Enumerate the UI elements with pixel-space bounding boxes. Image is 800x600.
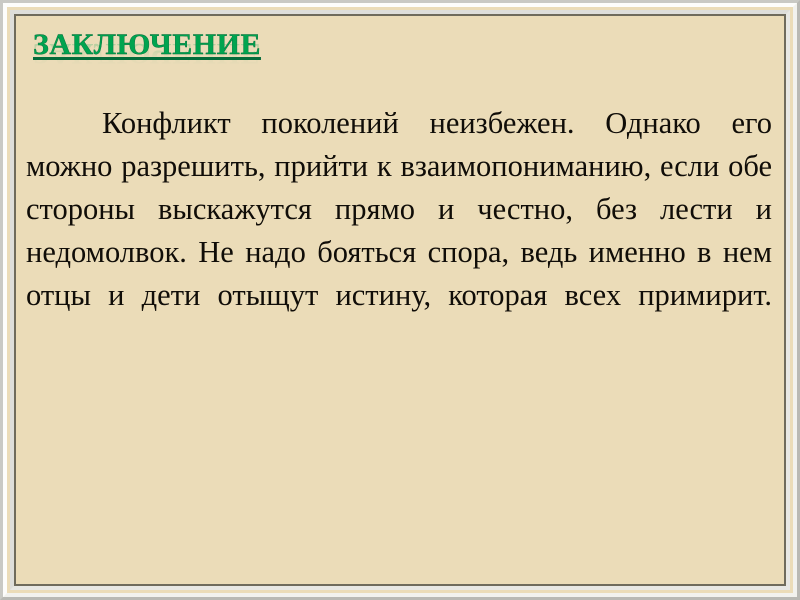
presentation-slide: ЗАКЛЮЧЕНИЕ ЗАКЛЮЧЕНИЕ Конфликт поколений…: [0, 0, 800, 600]
slide-title-block: ЗАКЛЮЧЕНИЕ ЗАКЛЮЧЕНИЕ: [33, 28, 261, 90]
slide-canvas: ЗАКЛЮЧЕНИЕ ЗАКЛЮЧЕНИЕ Конфликт поколений…: [16, 16, 784, 584]
page-title: ЗАКЛЮЧЕНИЕ: [33, 28, 261, 62]
slide-body-paragraph: Конфликт поколений неизбежен. Однако его…: [26, 102, 772, 360]
